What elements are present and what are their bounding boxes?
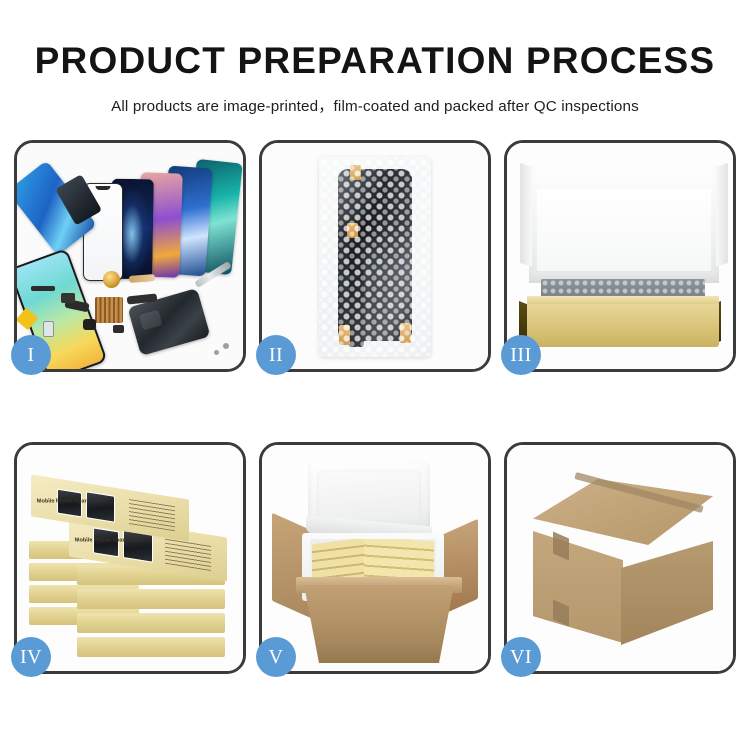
step-badge-6: VI xyxy=(501,637,541,677)
carton-loading-scene xyxy=(262,445,488,671)
step-badge-2: II xyxy=(256,335,296,375)
step-badge-3: III xyxy=(501,335,541,375)
kraft-box-base-icon xyxy=(527,303,719,347)
step-card-4: Mobile Phone Spare Parts Mobile Phone Sp… xyxy=(14,442,246,674)
copper-grid-part-icon xyxy=(95,297,123,323)
bubble-bag-icon xyxy=(319,157,431,357)
plastic-sheen xyxy=(319,157,431,357)
step-image-3 xyxy=(507,143,733,369)
stacked-box-r2 xyxy=(77,589,225,609)
screw-2-icon xyxy=(214,350,219,355)
box-window-top-2 xyxy=(86,491,115,523)
step-image-6 xyxy=(507,445,733,671)
sealed-carton-scene xyxy=(507,445,733,671)
sim-tray-part-icon xyxy=(43,321,54,337)
step-image-2 xyxy=(262,143,488,369)
box-label-top: Mobile Phone Spare Parts xyxy=(37,498,106,504)
chip-part-icon xyxy=(61,293,75,303)
phone-parts-scene xyxy=(17,143,243,369)
bar-part-icon xyxy=(31,286,55,291)
box-stack-scene: Mobile Phone Spare Parts Mobile Phone Sp… xyxy=(17,445,243,671)
bubble-bag-scene xyxy=(262,143,488,369)
stacked-box-r3 xyxy=(77,613,225,633)
box-label-front: Mobile Phone Spare Parts xyxy=(75,537,144,543)
stacked-box-r4 xyxy=(77,637,225,657)
foam-sheet-icon xyxy=(537,189,711,271)
step-badge-4: IV xyxy=(11,637,51,677)
step-image-1 xyxy=(17,143,243,369)
box-text-lines-top xyxy=(129,499,175,531)
carton-front-face xyxy=(533,531,623,643)
screw-icon xyxy=(223,343,229,349)
carton-side-face xyxy=(621,541,713,645)
step-card-1: I xyxy=(14,140,246,372)
gold-flex-part-icon xyxy=(129,274,155,283)
process-steps-grid: I II xyxy=(14,140,736,674)
step-badge-1: I xyxy=(11,335,51,375)
step-badge-5: V xyxy=(256,637,296,677)
page-subtitle: All products are image-printed，film-coat… xyxy=(0,81,750,116)
speaker-part-icon xyxy=(103,271,120,288)
camera-part-icon xyxy=(83,319,96,330)
inner-box-scene xyxy=(507,143,733,369)
box-text-lines-front xyxy=(165,538,211,571)
step-card-2: II xyxy=(259,140,491,372)
connector-part-icon xyxy=(113,325,124,333)
step-card-6: VI xyxy=(504,442,736,674)
page-header: PRODUCT PREPARATION PROCESS All products… xyxy=(0,0,750,116)
step-image-5 xyxy=(262,445,488,671)
carton-body-icon xyxy=(304,585,454,663)
step-image-4: Mobile Phone Spare Parts Mobile Phone Sp… xyxy=(17,445,243,671)
step-card-3: III xyxy=(504,140,736,372)
step-card-5: V xyxy=(259,442,491,674)
page-title: PRODUCT PREPARATION PROCESS xyxy=(0,0,750,81)
